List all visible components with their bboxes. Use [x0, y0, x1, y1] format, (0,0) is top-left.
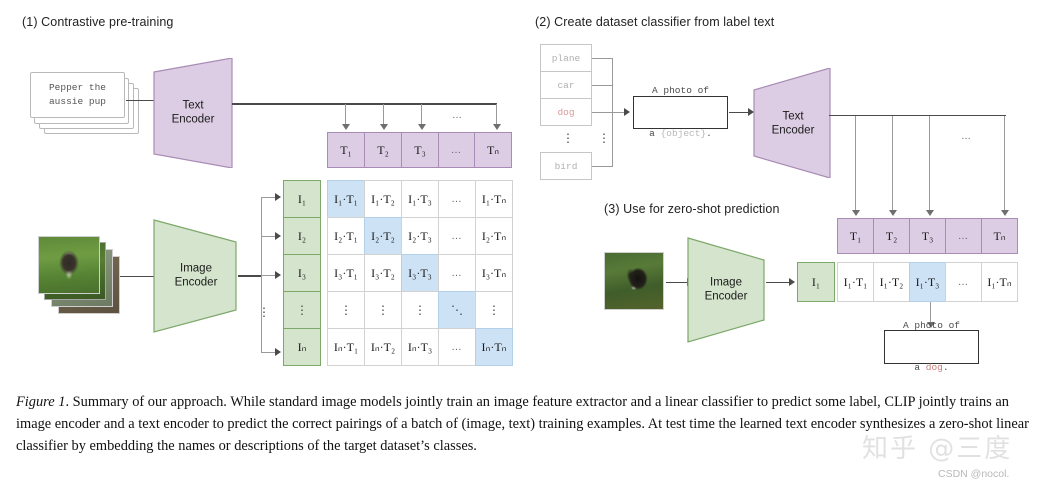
- matrix-cell: I₁·T₁: [327, 180, 365, 218]
- drop2-t2: [892, 116, 893, 212]
- t-cell: T₁: [837, 218, 874, 254]
- matrix-cell: I₂·T₁: [327, 217, 365, 255]
- text-embedding-row-2: T₁ T₂ T₃ … Tₙ: [837, 218, 1018, 254]
- t-cell: T₃: [401, 132, 439, 168]
- t-cell: T₁: [327, 132, 365, 168]
- i-cell: I₂: [283, 217, 321, 255]
- matrix-cell: I₃·Tₙ: [475, 254, 513, 292]
- matrix-cell: Iₙ·T₃: [401, 328, 439, 366]
- image-encoder-2[interactable]: Image Encoder: [682, 224, 770, 352]
- matrix-cell: I₂·T₃: [401, 217, 439, 255]
- t-cell: T₂: [364, 132, 402, 168]
- text-encoder-2[interactable]: Text Encoder: [750, 68, 836, 178]
- bus-ellipsis-2: …: [961, 131, 972, 142]
- text-card-front: Pepper the aussie pup: [30, 72, 125, 118]
- prediction-line-1: A photo of: [903, 319, 960, 333]
- arrowhead-i1: [275, 193, 281, 201]
- i-cell-ellipsis: ⋮: [283, 291, 321, 329]
- matrix-cell: I₁·T₂: [364, 180, 402, 218]
- drop2-tn: [1004, 116, 1005, 212]
- matrix-row: I₃·T₁I₃·T₂I₃·T₃…I₃·Tₙ: [327, 254, 513, 292]
- label-item-dog[interactable]: dog: [540, 98, 592, 126]
- arrowhead-label-to-prompt: [624, 108, 630, 116]
- matrix-cell: Iₙ·Tₙ: [475, 328, 513, 366]
- prompt-line-2: a {object}.: [649, 127, 712, 141]
- matrix-cell: …: [438, 328, 476, 366]
- matrix-row: I₁·T₁I₁·T₂I₁·T₃…I₁·Tₙ: [327, 180, 513, 218]
- t-cell: Tₙ: [981, 218, 1018, 254]
- i-cell: I₁: [283, 180, 321, 218]
- t-cell: T₂: [873, 218, 910, 254]
- arrowhead-i3: [275, 271, 281, 279]
- matrix-cell: ⋱: [438, 291, 476, 329]
- zeroshot-image-embedding: I₁: [797, 262, 835, 302]
- matrix-cell: Iₙ·T₂: [364, 328, 402, 366]
- figure-caption-text: . Summary of our approach. While standar…: [16, 394, 1029, 454]
- arrowhead-t3: [418, 124, 426, 130]
- section-title-2: (2) Create dataset classifier from label…: [535, 15, 774, 29]
- prompt-object-token: {object}: [661, 128, 707, 139]
- matrix-cell: I₁·Tₙ: [475, 180, 513, 218]
- arrowhead2-t2: [889, 210, 897, 216]
- label-connector-plane: [592, 58, 613, 59]
- image-stack: [38, 236, 124, 318]
- arrowhead-t1: [342, 124, 350, 130]
- matrix-row: ⋮⋮⋮⋱⋮: [327, 291, 513, 329]
- matrix-cell: I₂·Tₙ: [475, 217, 513, 255]
- matrix-cell: I₁·T₃: [401, 180, 439, 218]
- t-cell: Tₙ: [474, 132, 512, 168]
- matrix-cell: I₂·T₂: [364, 217, 402, 255]
- figure-caption: Figure 1. Summary of our approach. While…: [16, 392, 1046, 458]
- text-embedding-row-1: T₁ T₂ T₃ … Tₙ: [327, 132, 512, 168]
- prediction-line-2: a dog.: [903, 361, 960, 375]
- bus-text-encoder-1: [232, 103, 497, 105]
- bus-ellipsis-1: …: [452, 110, 463, 121]
- matrix-cell: I₃·T₁: [327, 254, 365, 292]
- prediction-box: A photo of a dog.: [884, 330, 979, 364]
- arrowhead2-t1: [852, 210, 860, 216]
- drop2-t3: [929, 116, 930, 212]
- matrix-cell: I₃·T₃: [401, 254, 439, 292]
- image-encoder-1[interactable]: Image Encoder: [150, 204, 242, 342]
- prompt-line-1: A photo of: [649, 84, 712, 98]
- image-embedding-column: I₁ I₂ I₃ ⋮ Iₙ: [283, 180, 321, 366]
- i-cell: I₃: [283, 254, 321, 292]
- matrix-cell: Iₙ·T₁: [327, 328, 365, 366]
- drop-t2: [383, 104, 384, 126]
- arrowhead2-tn: [1001, 210, 1009, 216]
- matrix-cell: ⋮: [327, 291, 365, 329]
- bus-image-encoder-1: [238, 275, 262, 277]
- arrowhead-t2: [380, 124, 388, 130]
- figure-canvas: (1) Contrastive pre-training (2) Create …: [0, 0, 1061, 494]
- matrix-cell: I₃·T₂: [364, 254, 402, 292]
- drop2-t1: [855, 116, 856, 212]
- drop-t3: [421, 104, 422, 126]
- matrix-cell: ⋮: [401, 291, 439, 329]
- drop-tn: [496, 104, 497, 126]
- zeroshot-score-cell: I₁·Tₙ: [981, 262, 1018, 302]
- label-connector-bird: [592, 166, 613, 167]
- matrix-cell: ⋮: [475, 291, 513, 329]
- label-item-bird[interactable]: bird: [540, 152, 592, 180]
- bus-vdots: ⋮: [258, 305, 270, 319]
- figure-caption-label: Figure 1: [16, 394, 65, 410]
- label-item-car[interactable]: car: [540, 71, 592, 99]
- t-cell-ellipsis: …: [438, 132, 475, 168]
- t-cell-ellipsis: …: [945, 218, 982, 254]
- label-list-vdots-left: ⋮: [562, 131, 574, 145]
- arrowhead2-t3: [926, 210, 934, 216]
- prompt-template-box: A photo of a {object}.: [633, 96, 728, 129]
- drop-t1: [345, 104, 346, 126]
- arrowhead-tn: [493, 124, 501, 130]
- label-connector-car: [592, 85, 613, 86]
- text-card-stack: Pepper the aussie pup: [30, 72, 142, 142]
- matrix-cell: …: [438, 180, 476, 218]
- matrix-cell: …: [438, 254, 476, 292]
- image-stack-front: [38, 236, 100, 294]
- t-cell: T₃: [909, 218, 946, 254]
- prediction-class-token: dog: [926, 362, 943, 373]
- arrowhead-i2: [275, 232, 281, 240]
- text-encoder-1[interactable]: Text Encoder: [148, 58, 238, 168]
- test-image: [604, 252, 664, 310]
- section-title-3: (3) Use for zero-shot prediction: [604, 202, 780, 216]
- label-item-plane[interactable]: plane: [540, 44, 592, 72]
- watermark-csdn: CSDN @nocol.: [938, 468, 1009, 480]
- matrix-row: Iₙ·T₁Iₙ·T₂Iₙ·T₃…Iₙ·Tₙ: [327, 328, 513, 366]
- zeroshot-score-cell: I₁·T₁: [837, 262, 874, 302]
- matrix-cell: …: [438, 217, 476, 255]
- matrix-row: I₂·T₁I₂·T₂I₂·T₃…I₂·Tₙ: [327, 217, 513, 255]
- label-list-vdots-right: ⋮: [598, 131, 610, 145]
- matrix-cell: ⋮: [364, 291, 402, 329]
- arrowhead-encoder-to-i1: [789, 278, 795, 286]
- arrowhead-in: [275, 348, 281, 356]
- section-title-1: (1) Contrastive pre-training: [22, 15, 173, 29]
- i-cell: Iₙ: [283, 328, 321, 366]
- similarity-matrix: I₁·T₁I₁·T₂I₁·T₃…I₁·TₙI₂·T₁I₂·T₂I₂·T₃…I₂·…: [327, 180, 513, 366]
